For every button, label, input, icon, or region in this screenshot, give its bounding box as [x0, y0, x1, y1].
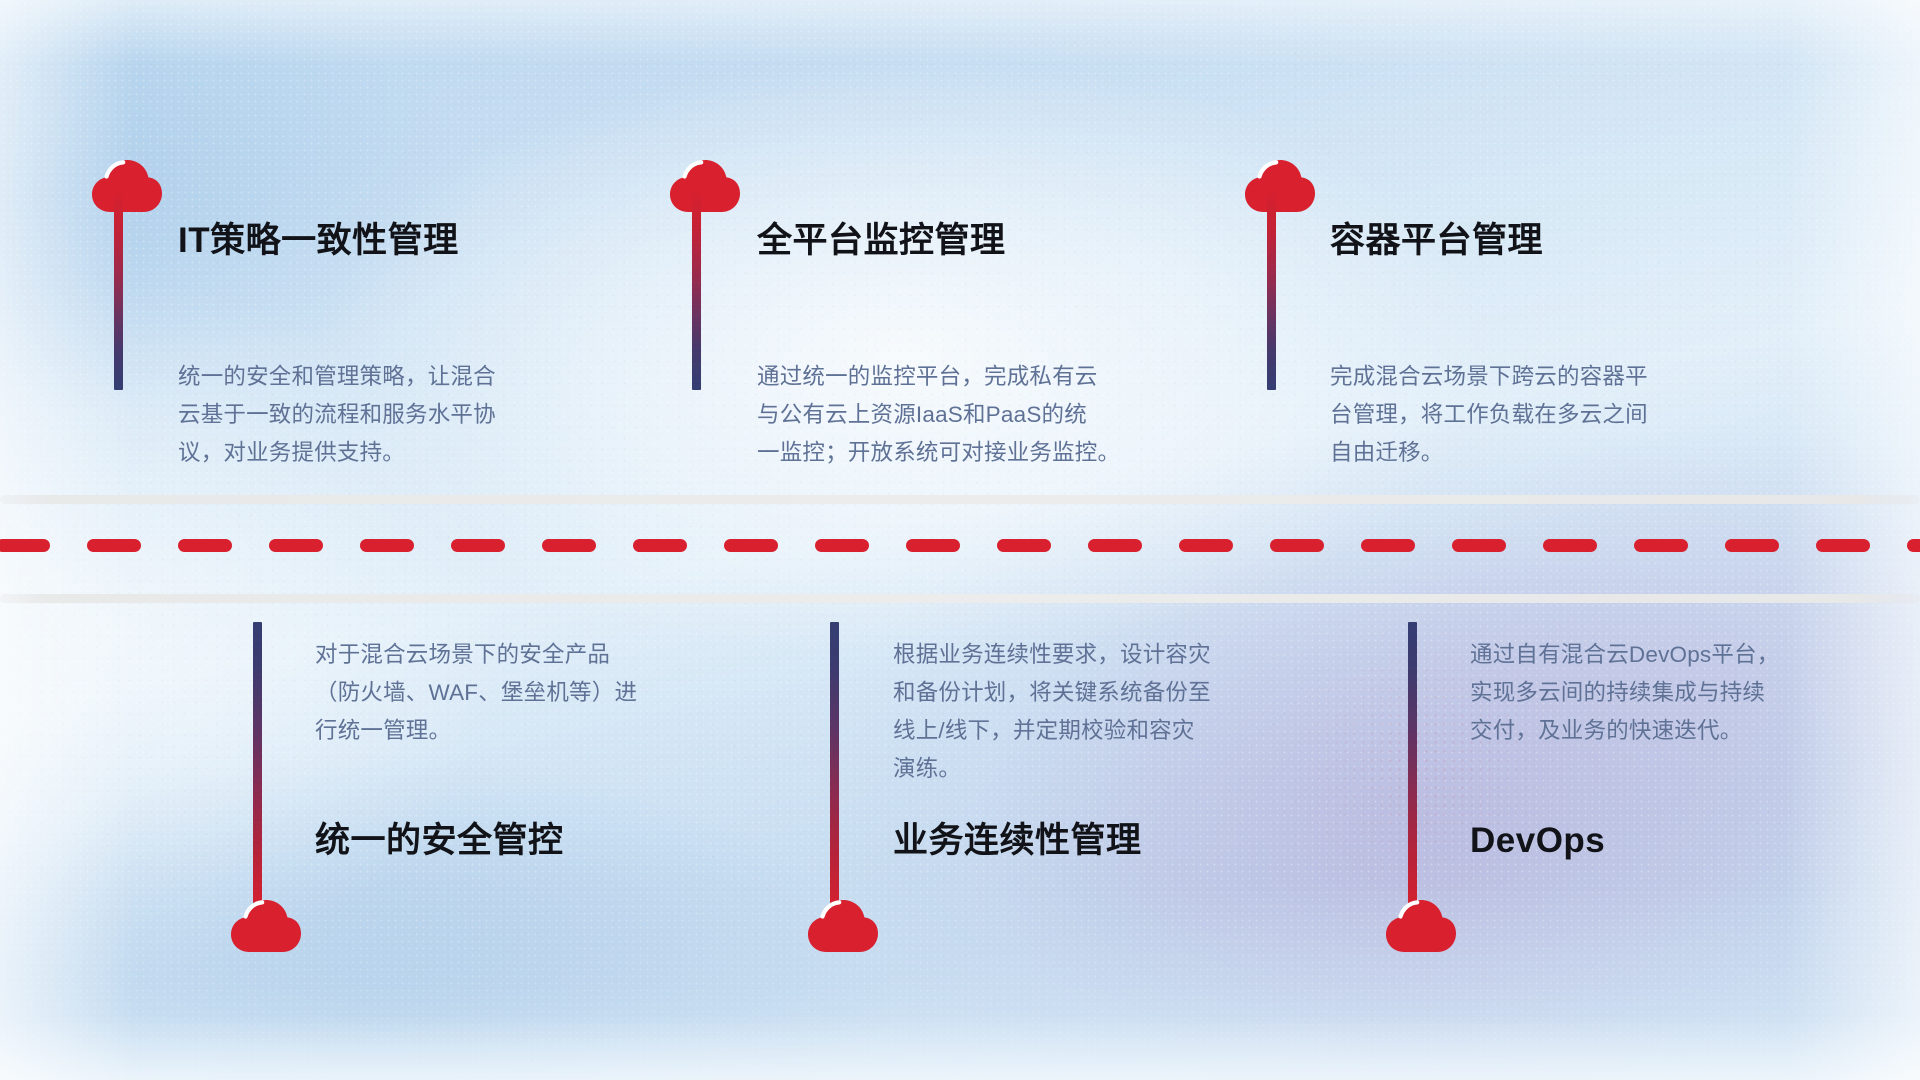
cloud-icon: [229, 898, 303, 954]
road-dash: [1725, 539, 1779, 552]
column-body-text: 通过统一的监控平台，完成私有云 与公有云上资源IaaS和PaaS的统 一监控；开…: [757, 358, 1217, 472]
road-edge-line-top: [0, 495, 1920, 504]
road-dash: [1361, 539, 1415, 552]
column-heading: DevOps: [1470, 820, 1605, 862]
column-stem: [253, 622, 262, 912]
column-body-text: 通过自有混合云DevOps平台， 实现多云间的持续集成与持续 交付，及业务的快速…: [1470, 636, 1910, 750]
road-dash: [1634, 539, 1688, 552]
road-dash: [1270, 539, 1324, 552]
column-stem: [114, 192, 123, 390]
column-stem: [692, 192, 701, 390]
cloud-icon: [806, 898, 880, 954]
cloud-icon: [1243, 158, 1317, 214]
cloud-icon: [668, 158, 742, 214]
road-center-dashed-line: [0, 539, 1920, 552]
road-dash: [1179, 539, 1233, 552]
road-dash: [451, 539, 505, 552]
column-stem: [1408, 622, 1417, 912]
road-dash: [1088, 539, 1142, 552]
column-body-text: 统一的安全和管理策略，让混合 云基于一致的流程和服务水平协 议，对业务提供支持。: [178, 358, 608, 472]
column-heading: 统一的安全管控: [315, 820, 564, 862]
column-heading: 业务连续性管理: [893, 820, 1142, 862]
road-dash: [87, 539, 141, 552]
cloud-icon: [1384, 898, 1458, 954]
column-stem: [1267, 192, 1276, 390]
road-dash: [0, 539, 50, 552]
road-dash: [906, 539, 960, 552]
column-body-text: 完成混合云场景下跨云的容器平 台管理，将工作负载在多云之间 自由迁移。: [1330, 358, 1770, 472]
column-stem: [830, 622, 839, 912]
column-heading: 容器平台管理: [1330, 220, 1543, 262]
road-dash: [269, 539, 323, 552]
column-body-text: 对于混合云场景下的安全产品 （防火墙、WAF、堡垒机等）进 行统一管理。: [315, 636, 745, 750]
road-dash: [178, 539, 232, 552]
road-dash: [1816, 539, 1870, 552]
road-dash: [1452, 539, 1506, 552]
road-dash: [360, 539, 414, 552]
column-heading: IT策略一致性管理: [178, 220, 459, 262]
column-body-text: 根据业务连续性要求，设计容灾 和备份计划，将关键系统备份至 线上/线下，并定期校…: [893, 636, 1333, 788]
cloud-icon: [90, 158, 164, 214]
road-dash: [1907, 539, 1920, 552]
road-dash: [1543, 539, 1597, 552]
road-dash: [997, 539, 1051, 552]
road-dash: [724, 539, 778, 552]
column-heading: 全平台监控管理: [757, 220, 1006, 262]
road-divider: [0, 495, 1920, 603]
road-dash: [815, 539, 869, 552]
road-edge-line-bottom: [0, 594, 1920, 603]
road-dash: [542, 539, 596, 552]
infographic-canvas: IT策略一致性管理 统一的安全和管理策略，让混合 云基于一致的流程和服务水平协 …: [0, 0, 1920, 1080]
road-dash: [633, 539, 687, 552]
